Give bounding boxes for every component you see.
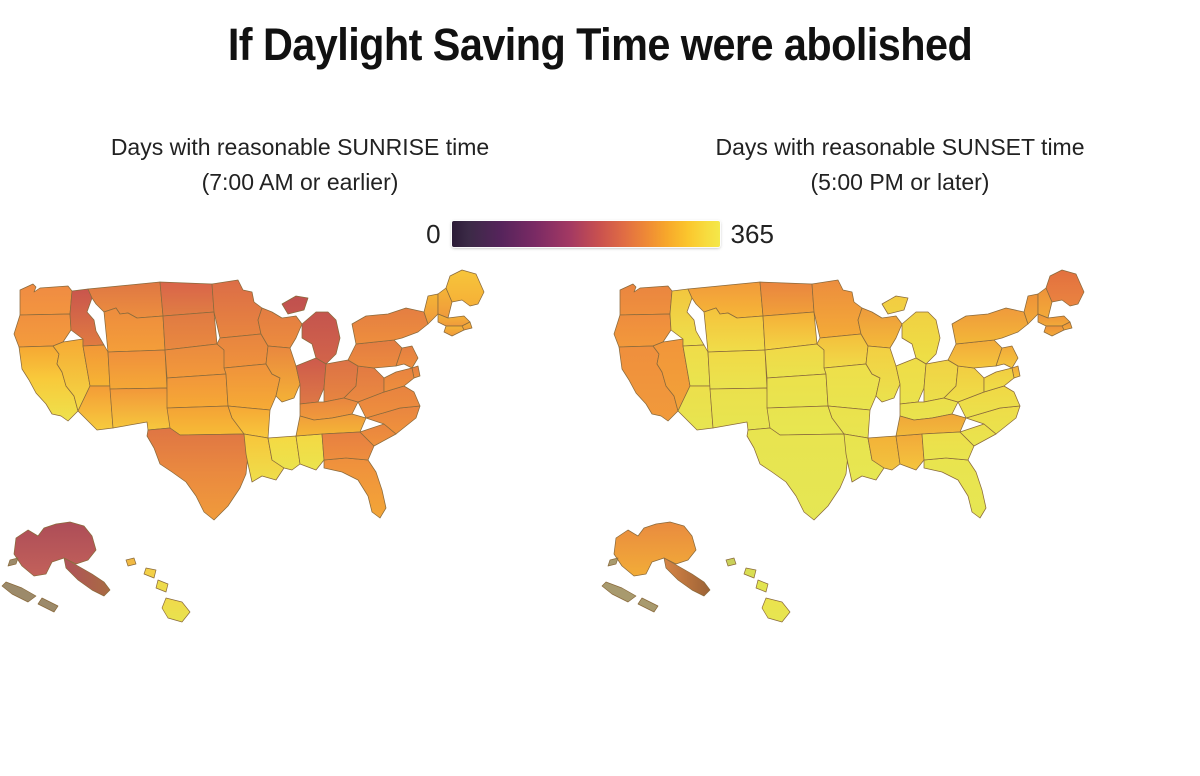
hawaii-island-1 bbox=[126, 558, 136, 566]
panel-heading-sunrise: Days with reasonable SUNRISE time (7:00 … bbox=[0, 130, 600, 200]
panel-headings: Days with reasonable SUNRISE time (7:00 … bbox=[0, 130, 1200, 200]
state-NY bbox=[952, 308, 1028, 344]
state-CT bbox=[1044, 326, 1064, 336]
us-choropleth-sunset bbox=[600, 268, 1200, 638]
state-ME bbox=[446, 270, 484, 306]
sunset-heading-line2: (5:00 PM or later) bbox=[600, 164, 1200, 200]
state-NM bbox=[710, 388, 770, 430]
state-WA bbox=[20, 284, 72, 315]
state-CO bbox=[708, 350, 767, 389]
state-NY bbox=[352, 308, 428, 344]
state-MN bbox=[812, 280, 862, 338]
state-ME bbox=[1046, 270, 1084, 306]
alaska-aleutian-tail bbox=[664, 558, 710, 596]
hawaii-island-1 bbox=[726, 558, 736, 566]
hawaii-island-3 bbox=[156, 580, 168, 592]
state-AL bbox=[296, 434, 324, 470]
state-MN bbox=[212, 280, 262, 338]
colorbar-gradient bbox=[452, 221, 720, 247]
map-panel-sunrise bbox=[0, 268, 600, 638]
state-IA bbox=[817, 334, 868, 368]
states-group-sunset bbox=[602, 270, 1084, 622]
state-SD bbox=[163, 312, 217, 350]
state-TX bbox=[747, 428, 848, 520]
colorbar-max-label: 365 bbox=[731, 219, 774, 249]
page-title: If Daylight Saving Time were abolished bbox=[48, 16, 1152, 74]
state-SD bbox=[763, 312, 817, 350]
state-ND bbox=[760, 282, 814, 316]
state-IA bbox=[217, 334, 268, 368]
state-NM bbox=[110, 388, 170, 430]
infographic-page: If Daylight Saving Time were abolished D… bbox=[0, 0, 1200, 776]
state-CO bbox=[108, 350, 167, 389]
states-group-sunrise bbox=[2, 270, 484, 622]
state-NE bbox=[165, 344, 226, 378]
sunrise-heading-line1: Days with reasonable SUNRISE time bbox=[0, 130, 600, 164]
state-KS bbox=[767, 374, 828, 408]
alaska-aleutian-tail bbox=[64, 558, 110, 596]
state-TX bbox=[147, 428, 248, 520]
us-choropleth-sunrise bbox=[0, 268, 600, 638]
state-AL bbox=[896, 434, 924, 470]
state-NE bbox=[765, 344, 826, 378]
state-MT bbox=[688, 282, 763, 318]
alaska-island-1 bbox=[608, 558, 618, 566]
colorbar-min-label: 0 bbox=[426, 219, 440, 249]
state-KS bbox=[167, 374, 228, 408]
state-FL bbox=[924, 458, 986, 518]
sunset-heading-line1: Days with reasonable SUNSET time bbox=[600, 130, 1200, 164]
sunrise-heading-line2: (7:00 AM or earlier) bbox=[0, 164, 600, 200]
hawaii-island-2 bbox=[744, 568, 756, 578]
state-FL bbox=[324, 458, 386, 518]
state-IN bbox=[896, 358, 926, 404]
hawaii-island-3 bbox=[756, 580, 768, 592]
state-AK bbox=[614, 522, 696, 576]
state-IN bbox=[296, 358, 326, 404]
state-CT bbox=[444, 326, 464, 336]
map-panel-sunset bbox=[600, 268, 1200, 638]
alaska-island-1 bbox=[8, 558, 18, 566]
alaska-island-3 bbox=[38, 598, 58, 612]
alaska-island-2 bbox=[2, 582, 36, 602]
alaska-island-2 bbox=[602, 582, 636, 602]
colorbar-legend: 0 365 bbox=[0, 219, 1200, 249]
maps-container bbox=[0, 268, 1200, 638]
hawaii-island-2 bbox=[144, 568, 156, 578]
alaska-island-3 bbox=[638, 598, 658, 612]
hawaii-island-big bbox=[162, 598, 190, 622]
state-WA bbox=[620, 284, 672, 315]
panel-heading-sunset: Days with reasonable SUNSET time (5:00 P… bbox=[600, 130, 1200, 200]
state-MT bbox=[88, 282, 163, 318]
state-AK bbox=[14, 522, 96, 576]
hawaii-island-big bbox=[762, 598, 790, 622]
state-ND bbox=[160, 282, 214, 316]
